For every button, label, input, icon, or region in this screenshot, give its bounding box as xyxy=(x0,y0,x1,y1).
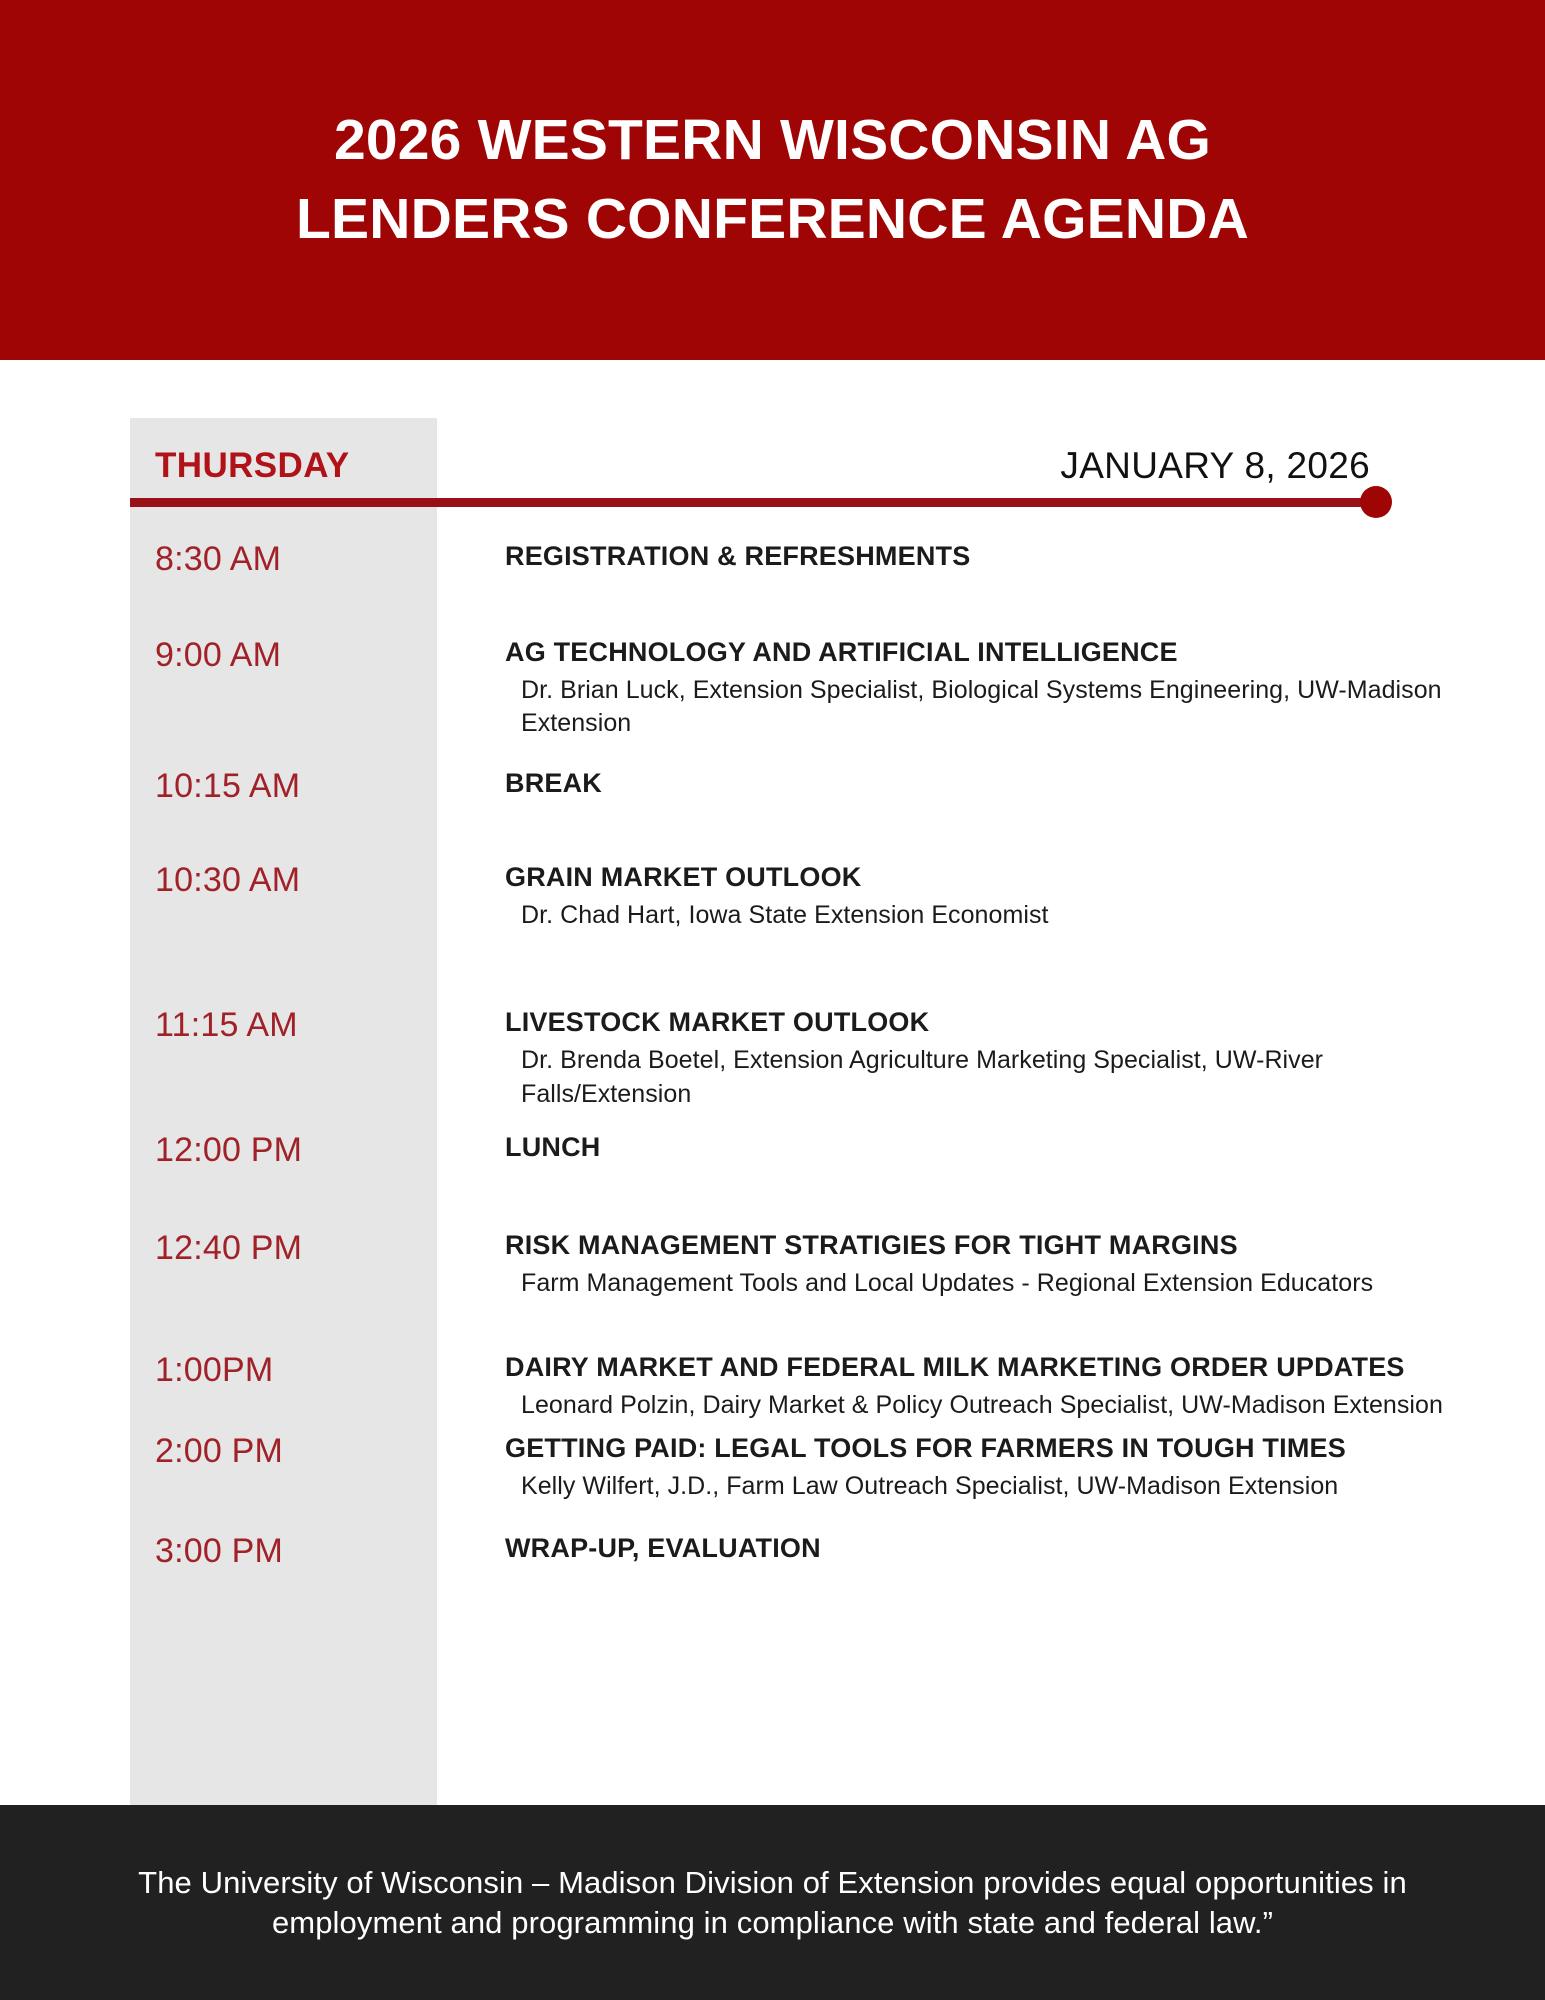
agenda-row-time: 12:00 PM xyxy=(130,1131,437,1170)
agenda-row-title: REGISTRATION & REFRESHMENTS xyxy=(505,540,1450,573)
agenda-row-body: REGISTRATION & REFRESHMENTS xyxy=(437,540,1460,573)
day-header-row: THURSDAY JANUARY 8, 2026 xyxy=(130,440,1378,492)
agenda-row-speaker: Farm Management Tools and Local Updates … xyxy=(505,1267,1450,1301)
date-label: JANUARY 8, 2026 xyxy=(1060,440,1370,492)
agenda-row-time: 3:00 PM xyxy=(130,1532,437,1571)
timeline-end-dot-icon xyxy=(1360,486,1392,518)
page-title-line-2: LENDERS CONFERENCE AGENDA xyxy=(296,180,1249,259)
agenda-row: 10:15 AMBREAK xyxy=(130,767,1460,829)
agenda-row: 8:30 AMREGISTRATION & REFRESHMENTS xyxy=(130,540,1460,602)
agenda-row-time: 8:30 AM xyxy=(130,540,437,579)
agenda-row-time: 1:00PM xyxy=(130,1351,437,1390)
agenda-row: 12:40 PMRISK MANAGEMENT STRATIGIES FOR T… xyxy=(130,1229,1460,1300)
page-title-line-1: 2026 WESTERN WISCONSIN AG xyxy=(296,101,1249,180)
timeline-rule xyxy=(130,498,1378,507)
agenda-row-body: BREAK xyxy=(437,767,1460,800)
agenda-row-body: LUNCH xyxy=(437,1131,1460,1164)
agenda-row-body: LIVESTOCK MARKET OUTLOOKDr. Brenda Boete… xyxy=(437,1006,1460,1111)
agenda-row-time: 10:15 AM xyxy=(130,767,437,806)
agenda-row-speaker: Dr. Brenda Boetel, Extension Agriculture… xyxy=(505,1044,1450,1111)
agenda-row-body: AG TECHNOLOGY AND ARTIFICIAL INTELLIGENC… xyxy=(437,636,1460,741)
agenda-row-speaker: Leonard Polzin, Dairy Market & Policy Ou… xyxy=(505,1389,1450,1423)
agenda-row: 10:30 AMGRAIN MARKET OUTLOOKDr. Chad Har… xyxy=(130,861,1460,932)
day-label: THURSDAY xyxy=(155,440,349,492)
agenda-row-body: GETTING PAID: LEGAL TOOLS FOR FARMERS IN… xyxy=(437,1432,1460,1503)
agenda-row-speaker: Dr. Chad Hart, Iowa State Extension Econ… xyxy=(505,899,1450,933)
agenda-row: 2:00 PMGETTING PAID: LEGAL TOOLS FOR FAR… xyxy=(130,1432,1460,1503)
agenda-row-speaker: Kelly Wilfert, J.D., Farm Law Outreach S… xyxy=(505,1470,1450,1504)
agenda-row: 9:00 AMAG TECHNOLOGY AND ARTIFICIAL INTE… xyxy=(130,636,1460,741)
agenda-row: 11:15 AMLIVESTOCK MARKET OUTLOOKDr. Bren… xyxy=(130,1006,1460,1111)
agenda-row-title: WRAP-UP, EVALUATION xyxy=(505,1532,1450,1565)
agenda-row-speaker: Dr. Brian Luck, Extension Specialist, Bi… xyxy=(505,674,1450,741)
agenda-row-time: 2:00 PM xyxy=(130,1432,437,1471)
agenda-row: 12:00 PMLUNCH xyxy=(130,1131,1460,1193)
agenda-row-time: 11:15 AM xyxy=(130,1006,437,1045)
agenda-row-body: GRAIN MARKET OUTLOOKDr. Chad Hart, Iowa … xyxy=(437,861,1460,932)
agenda-row-title: BREAK xyxy=(505,767,1450,800)
agenda-row-time: 10:30 AM xyxy=(130,861,437,900)
footer-banner: The University of Wisconsin – Madison Di… xyxy=(0,1805,1545,2000)
agenda-row-title: AG TECHNOLOGY AND ARTIFICIAL INTELLIGENC… xyxy=(505,636,1450,669)
page-title: 2026 WESTERN WISCONSIN AG LENDERS CONFER… xyxy=(296,101,1249,258)
agenda-row: 1:00PMDAIRY MARKET AND FEDERAL MILK MARK… xyxy=(130,1351,1460,1422)
agenda-row-body: DAIRY MARKET AND FEDERAL MILK MARKETING … xyxy=(437,1351,1460,1422)
agenda-row: 3:00 PMWRAP-UP, EVALUATION xyxy=(130,1532,1460,1594)
agenda-row-time: 12:40 PM xyxy=(130,1229,437,1268)
agenda-row-body: RISK MANAGEMENT STRATIGIES FOR TIGHT MAR… xyxy=(437,1229,1460,1300)
agenda-row-title: RISK MANAGEMENT STRATIGIES FOR TIGHT MAR… xyxy=(505,1229,1450,1262)
agenda-row-title: LIVESTOCK MARKET OUTLOOK xyxy=(505,1006,1450,1039)
header-banner: 2026 WESTERN WISCONSIN AG LENDERS CONFER… xyxy=(0,0,1545,360)
agenda-list: 8:30 AMREGISTRATION & REFRESHMENTS9:00 A… xyxy=(130,540,1460,1594)
agenda-row-body: WRAP-UP, EVALUATION xyxy=(437,1532,1460,1565)
agenda-row-title: GETTING PAID: LEGAL TOOLS FOR FARMERS IN… xyxy=(505,1432,1450,1465)
agenda-row-title: LUNCH xyxy=(505,1131,1450,1164)
agenda-row-title: GRAIN MARKET OUTLOOK xyxy=(505,861,1450,894)
footer-disclaimer-text: The University of Wisconsin – Madison Di… xyxy=(63,1863,1483,1942)
agenda-row-title: DAIRY MARKET AND FEDERAL MILK MARKETING … xyxy=(505,1351,1450,1384)
agenda-row-time: 9:00 AM xyxy=(130,636,437,675)
